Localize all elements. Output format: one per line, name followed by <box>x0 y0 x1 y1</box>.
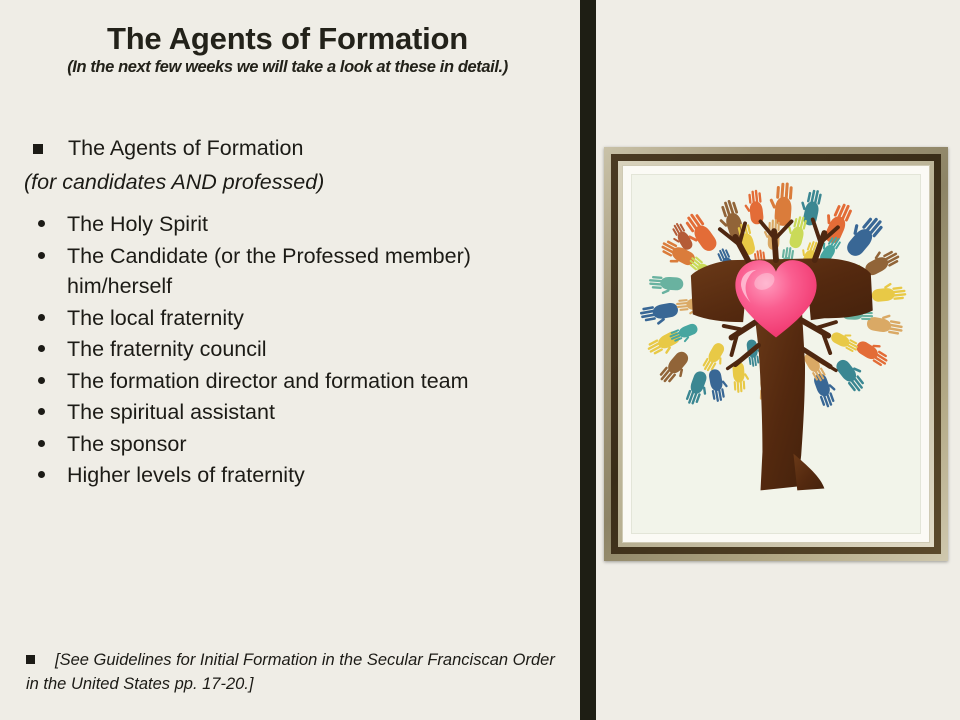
footnote-label: [See Guidelines for Initial Formation in… <box>26 651 555 693</box>
frame-inner-bevel <box>611 154 941 554</box>
page-title: The Agents of Formation <box>0 22 575 55</box>
tau-cross-tree-svg <box>632 175 920 533</box>
list-item-label: The Holy Spirit <box>67 212 208 236</box>
round-bullet-icon <box>38 471 45 478</box>
list-item: The local fraternity <box>0 303 580 334</box>
list-item: The sponsor <box>0 429 580 460</box>
list-item-label: The fraternity council <box>67 337 267 361</box>
slide: The Agents of Formation (In the next few… <box>0 0 960 720</box>
list-item: The spiritual assistant <box>0 397 580 428</box>
list-item: Higher levels of fraternity <box>0 460 580 491</box>
tau-cross-tree-artwork <box>631 174 921 534</box>
square-bullet-icon <box>33 144 43 154</box>
list-item-label: The local fraternity <box>67 306 244 330</box>
round-bullet-icon <box>38 408 45 415</box>
list-item: The Holy Spirit <box>0 209 580 240</box>
round-bullet-icon <box>38 345 45 352</box>
list-item-label: The sponsor <box>67 432 187 456</box>
list-item-label: The spiritual assistant <box>67 400 275 424</box>
round-bullet-icon <box>38 377 45 384</box>
round-bullet-icon <box>38 220 45 227</box>
square-bullet-icon <box>26 655 35 664</box>
section-heading-label: The Agents of Formation <box>68 136 303 160</box>
list-item: The formation director and formation tea… <box>0 366 580 397</box>
frame-mat <box>622 165 930 543</box>
list-item-label: Higher levels of fraternity <box>67 463 305 487</box>
list-item-label: The formation director and formation tea… <box>67 369 469 393</box>
left-content-column: The Agents of Formation (In the next few… <box>0 0 580 720</box>
title-block: The Agents of Formation (In the next few… <box>0 22 575 77</box>
frame-lip <box>618 161 934 547</box>
body-block: The Agents of Formation (for candidates … <box>0 134 580 492</box>
list-item: The fraternity council <box>0 334 580 365</box>
section-parenthetical: (for candidates AND professed) <box>0 168 580 197</box>
list-item-label: The Candidate (or the Professed member) … <box>67 244 471 299</box>
footnote: [See Guidelines for Initial Formation in… <box>0 648 580 696</box>
round-bullet-icon <box>38 440 45 447</box>
list-item: The Candidate (or the Professed member) … <box>0 241 580 302</box>
agents-list: The Holy Spirit The Candidate (or the Pr… <box>0 209 580 491</box>
picture-frame <box>604 147 948 561</box>
vertical-divider <box>580 0 596 720</box>
section-heading: The Agents of Formation <box>0 134 580 162</box>
round-bullet-icon <box>38 252 45 259</box>
round-bullet-icon <box>38 314 45 321</box>
page-subtitle: (In the next few weeks we will take a lo… <box>0 58 575 76</box>
